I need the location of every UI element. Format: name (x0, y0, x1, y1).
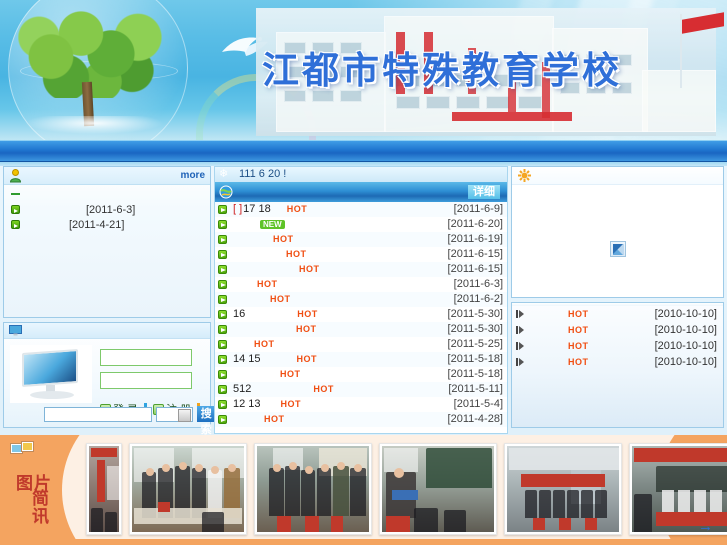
side-news-date: [2010-10-10] (655, 306, 717, 322)
news-date: [2011-5-25] (448, 337, 503, 352)
hot-badge: HOT (273, 232, 294, 247)
feature-panel-header (512, 167, 723, 185)
side-news-row[interactable]: HOT[2010-10-10] (512, 354, 723, 370)
side-news-panel: HOT[2010-10-10]HOT[2010-10-10]HOT[2010-1… (511, 302, 724, 428)
hot-badge: HOT (254, 337, 275, 352)
photo-thumbnail-row (86, 443, 727, 535)
arrow-bullet-icon (218, 340, 227, 349)
main-navigation[interactable] (0, 140, 727, 162)
monitor-screen-decor (22, 349, 78, 387)
news-row[interactable]: HOT[2011-6-15] (215, 262, 507, 277)
hot-badge: HOT (568, 354, 589, 370)
news-date: [2011-6-15] (448, 262, 503, 277)
news-date: [2011-5-18] (448, 367, 503, 382)
arrow-bullet-icon (218, 325, 227, 334)
hot-badge: HOT (264, 412, 285, 427)
arrow-bullet-icon (218, 235, 227, 244)
minus-icon (11, 193, 20, 195)
thumb-banner-donation[interactable] (504, 443, 622, 535)
tree-base-glow (24, 116, 164, 134)
arrow-bullet-icon (218, 205, 227, 214)
photo-icon (10, 441, 34, 457)
hot-badge: HOT (270, 292, 291, 307)
play-bullet-icon (516, 326, 525, 334)
photo-news-strip: 图片 简讯 (0, 435, 727, 545)
photo-news-label: 图片 简讯 (16, 475, 64, 526)
hot-badge: HOT (281, 397, 302, 412)
news-row[interactable]: HOT[2011-5-18] (215, 367, 507, 382)
news-row[interactable]: [ ]17 18HOT[2011-6-9] (215, 202, 507, 217)
thumb-teacher-students[interactable] (379, 443, 497, 535)
feature-image-panel (511, 166, 724, 298)
news-list: [ ]17 18HOT[2011-6-9]NEW[2011-6-20]HOT[2… (214, 202, 508, 434)
arrow-bullet-icon (218, 415, 227, 424)
arrow-bullet-icon (218, 385, 227, 394)
left-column: more [2011-6-3] (3, 166, 211, 434)
hot-badge: HOT (287, 202, 308, 217)
news-row[interactable]: HOT[2011-6-19] (215, 232, 507, 247)
news-number: 12 13 (233, 397, 261, 412)
arrow-bullet-icon (218, 400, 227, 409)
news-date: [2011-5-4] (454, 397, 503, 412)
password-input[interactable] (100, 372, 192, 389)
computer-illustration (10, 345, 92, 403)
thumbnail-image (382, 446, 494, 532)
news-row[interactable]: HOT[2011-5-25] (215, 337, 507, 352)
side-news-date: [2010-10-10] (655, 338, 717, 354)
play-bullet-icon (516, 358, 525, 366)
list-item[interactable]: [2011-6-3] (8, 202, 206, 217)
hot-badge: HOT (257, 277, 278, 292)
side-news-row[interactable]: HOT[2010-10-10] (512, 306, 723, 322)
play-bullet-icon (516, 310, 525, 318)
news-number: 512 (233, 382, 251, 397)
hot-badge: HOT (568, 322, 589, 338)
announcements-header: more (4, 167, 210, 185)
news-row[interactable]: HOT[2011-6-2] (215, 292, 507, 307)
announcement-date: [2011-6-3] (86, 204, 135, 216)
list-item[interactable]: [2011-4-21] (8, 217, 206, 232)
news-row[interactable]: NEW[2011-6-20] (215, 217, 507, 232)
globe-icon (219, 185, 233, 199)
news-panel-header: 详细 (214, 182, 508, 202)
monitor-base-decor (30, 391, 74, 399)
site-search: 搜索 (44, 406, 223, 422)
strip-bottom-bar-decor (0, 539, 727, 545)
photo-news-label-line2: 简讯 (32, 490, 64, 526)
arrow-bullet-icon (218, 295, 227, 304)
news-number: 17 18 (243, 202, 271, 217)
login-panel-header (4, 323, 210, 339)
news-row[interactable]: 14 15HOT[2011-5-18] (215, 352, 507, 367)
news-row[interactable]: HOT[2011-4-28] (215, 412, 507, 427)
play-bullet-icon (516, 342, 525, 350)
news-row[interactable]: 16HOT[2011-5-30] (215, 307, 507, 322)
main-content: more [2011-6-3] (0, 166, 727, 435)
side-news-list: HOT[2010-10-10]HOT[2010-10-10]HOT[2010-1… (512, 306, 723, 370)
news-row[interactable]: HOT[2011-5-30] (215, 322, 507, 337)
hot-badge: HOT (297, 307, 318, 322)
thumbnail-image (507, 446, 619, 532)
snowflake-icon: ❄ (219, 169, 231, 181)
news-date: [2011-4-28] (448, 412, 503, 427)
hot-badge: HOT (286, 247, 307, 262)
thumb-classroom-visitors[interactable] (129, 443, 247, 535)
news-number: 16 (233, 307, 245, 322)
news-date: [2011-6-15] (448, 247, 503, 262)
hot-badge: HOT (297, 352, 318, 367)
news-row[interactable]: HOT[2011-6-3] (215, 277, 507, 292)
monitor-icon (9, 325, 22, 336)
arrow-bullet-icon (218, 310, 227, 319)
arrow-bullet-icon (218, 280, 227, 289)
announcements-more-link[interactable]: more (181, 170, 205, 181)
page-root: 江都市特殊教育学校 more (0, 0, 727, 545)
news-date: [2011-5-11] (448, 382, 503, 397)
news-date: [2011-6-19] (448, 232, 503, 247)
hot-badge: HOT (568, 338, 589, 354)
site-title: 江都市特殊教育学校 (262, 40, 602, 94)
news-date: [2011-6-3] (454, 277, 503, 292)
right-column: HOT[2010-10-10]HOT[2010-10-10]HOT[2010-1… (511, 166, 724, 434)
list-item[interactable] (8, 187, 206, 202)
news-number: 14 15 (233, 352, 261, 367)
side-news-date: [2010-10-10] (655, 354, 717, 370)
hot-badge: HOT (299, 262, 320, 277)
arrow-bullet-icon (218, 355, 227, 364)
arrow-bullet-icon (218, 250, 227, 259)
person-icon (9, 169, 22, 183)
next-photos-arrow-icon[interactable]: → (698, 518, 713, 535)
hot-badge: HOT (296, 322, 317, 337)
center-column: ❄ 111 6 20 ! 详细 [ ]17 18HOT[2011-6-9]NEW… (214, 166, 508, 434)
search-category-select[interactable] (156, 407, 193, 422)
side-news-row[interactable]: HOT[2010-10-10] (512, 322, 723, 338)
hot-badge: HOT (568, 306, 589, 322)
news-date: [2011-5-30] (448, 322, 503, 337)
news-date: [2011-6-20] (448, 217, 503, 232)
side-news-date: [2010-10-10] (655, 322, 717, 338)
new-badge: NEW (260, 220, 285, 229)
thumbnail-image (132, 446, 244, 532)
thumb-gate-decor[interactable] (86, 443, 122, 535)
arrow-bullet-icon (11, 220, 20, 229)
news-row[interactable]: HOT[2011-6-15] (215, 247, 507, 262)
login-panel: 登 录 注 册 搜索 (3, 322, 211, 428)
arrow-bullet-icon (218, 370, 227, 379)
news-date: [2011-5-30] (448, 307, 503, 322)
notice-bar: ❄ 111 6 20 ! (214, 166, 508, 182)
broken-image-placeholder (610, 241, 626, 257)
hot-badge: HOT (280, 367, 301, 382)
arrow-bullet-icon (218, 265, 227, 274)
hot-badge: HOT (313, 382, 334, 397)
news-row[interactable]: 512HOT[2011-5-11] (215, 382, 507, 397)
sun-icon (518, 169, 531, 182)
news-date: [2011-6-2] (454, 292, 503, 307)
username-input[interactable] (100, 349, 192, 366)
announcements-panel: more [2011-6-3] (3, 166, 211, 318)
side-news-row[interactable]: HOT[2010-10-10] (512, 338, 723, 354)
detail-button[interactable]: 详细 (468, 185, 500, 199)
announcement-date: [2011-4-21] (69, 219, 124, 231)
thumbnail-image (89, 446, 119, 532)
news-date: [2011-6-9] (454, 202, 503, 217)
news-prefix: [ ] (233, 202, 242, 217)
notice-text: 111 6 20 ! (239, 168, 286, 180)
arrow-bullet-icon (218, 220, 227, 229)
thumbnail-image (257, 446, 369, 532)
thumb-classroom-group[interactable] (254, 443, 372, 535)
news-date: [2011-5-18] (448, 352, 503, 367)
tree-icon (18, 6, 168, 98)
arrow-bullet-icon (11, 205, 20, 214)
news-row[interactable]: 12 13HOT[2011-5-4] (215, 397, 507, 412)
site-banner: 江都市特殊教育学校 (0, 0, 727, 140)
search-input[interactable] (44, 407, 152, 422)
announcements-body: [2011-6-3] [2011-4-21] (4, 185, 210, 232)
